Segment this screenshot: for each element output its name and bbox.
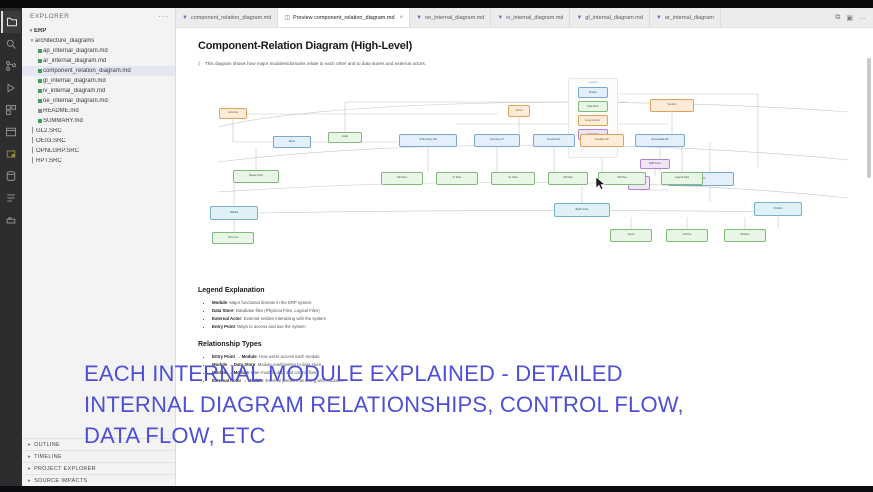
tree-root-file-list: ⎮GL2.SRC⎮OE03.SRC⎮OPNLGRP.SRC⎮RPT.SRC <box>22 126 175 166</box>
remote-explorer-icon[interactable] <box>1 143 21 165</box>
tree-root-file-item[interactable]: ⎮GL2.SRC <box>22 126 175 136</box>
relationship-list: Entry Point → Module: How users access e… <box>198 353 853 385</box>
diagram-node[interactable]: GL Files <box>491 172 535 185</box>
more-actions-icon[interactable]: … <box>859 14 866 21</box>
file-icon: ⎮ <box>29 138 36 144</box>
chevron-right-icon: ▸ <box>28 442 31 448</box>
sidebar-title: EXPLORER <box>30 13 69 20</box>
list-item: Data Store: Database files (Physical Fil… <box>212 307 853 315</box>
diagram-node[interactable]: Backup <box>724 229 766 242</box>
editor-tab[interactable]: ▼component_relation_diagram.md <box>176 8 278 27</box>
markdown-icon: ▼ <box>497 15 503 21</box>
tree-file-label: SUMMARY.md <box>43 118 83 124</box>
vscode-window: EXPLORER ··· ▾ ERP ▾ architecture_diagra… <box>0 0 873 492</box>
sidebar-section-label: OUTLINE <box>34 442 60 448</box>
diagram-node[interactable]: Master Files <box>233 170 279 183</box>
list-item-term: External Actor <box>212 316 241 321</box>
diagram-node[interactable]: Logical Files <box>661 172 703 185</box>
tree-file-item[interactable]: README.md <box>22 106 175 116</box>
page-intro: This diagram shows how major modules/dom… <box>198 61 853 66</box>
tree-file-item[interactable]: gl_internal_diagram.md <box>22 76 175 86</box>
diagram-node[interactable]: IV Files <box>436 172 478 185</box>
editor-area: ▼component_relation_diagram.md◫Preview c… <box>176 8 873 486</box>
sidebar-section-label: SOURCE IMPACTS <box>34 478 87 484</box>
list-item-term: Data Store <box>212 308 234 313</box>
tree-file-item[interactable]: ar_internal_diagram.md <box>22 56 175 66</box>
list-item-term: Entry Point → Module <box>212 354 257 359</box>
file-icon: ⎮ <box>29 148 36 154</box>
sidebar-section-label: PROJECT EXPLORER <box>34 466 96 472</box>
markdown-icon: ▼ <box>576 15 582 21</box>
close-icon[interactable]: × <box>400 15 404 21</box>
diagram-node[interactable]: Vendors <box>650 99 694 112</box>
tree-file-item[interactable]: ap_internal_diagram.md <box>22 46 175 56</box>
diagram-node[interactable]: External <box>219 108 247 119</box>
diagram-node[interactable]: Archive <box>666 229 708 242</box>
list-item-desc: : Ways to access and use the system <box>235 324 306 329</box>
file-tree: ▾ ERP ▾ architecture_diagrams ap_interna… <box>22 25 175 166</box>
list-item-desc: : Module reads/writes to data store <box>255 362 321 367</box>
tree-file-item[interactable]: SUMMARY.md <box>22 116 175 126</box>
diagram-node[interactable]: Common <box>212 232 254 244</box>
tree-root-file-item[interactable]: ⎮RPT.SRC <box>22 156 175 166</box>
markdown-icon: ▼ <box>416 15 422 21</box>
tree-root-file-label: GL2.SRC <box>36 128 62 134</box>
tree-file-list: ap_internal_diagram.mdar_internal_diagra… <box>22 46 175 126</box>
editor-tab-label: component_relation_diagram.md <box>191 15 271 21</box>
diagram-legend-swatch: Data Store <box>578 101 608 112</box>
tree-file-label: ap_internal_diagram.md <box>43 48 108 54</box>
run-debug-icon[interactable] <box>1 77 21 99</box>
markdown-icon <box>36 48 43 54</box>
list-item-desc: : How users access each module <box>257 354 320 359</box>
sidebar-section-timeline[interactable]: ▸TIMELINE <box>22 450 175 462</box>
editor-tab[interactable]: ▼gl_internal_diagram.md <box>570 8 649 27</box>
tree-file-label: iv_internal_diagram.md <box>43 88 105 94</box>
tree-file-label: oe_internal_diagram.md <box>43 98 108 104</box>
diagram-legend-swatch: Module <box>578 87 608 98</box>
list-item-desc: : Inter-module data and control flow <box>249 370 316 375</box>
extensions-icon[interactable] <box>1 99 21 121</box>
editor-tab-label: gl_internal_diagram.md <box>585 15 642 21</box>
markdown-icon <box>36 88 43 94</box>
sidebar-section-source-impacts[interactable]: ▸SOURCE IMPACTS <box>22 474 175 486</box>
page-title: Component-Relation Diagram (High-Level) <box>198 40 853 52</box>
tree-file-item[interactable]: oe_internal_diagram.md <box>22 96 175 106</box>
diagram-node[interactable]: Batch Jobs <box>554 203 610 217</box>
diagram-node[interactable]: AP Files <box>548 172 588 185</box>
docker-icon[interactable] <box>1 209 21 231</box>
list-item-desc: : Database files (Physical Files, Logica… <box>234 308 320 313</box>
diagram-node[interactable]: Menu <box>273 136 311 148</box>
markdown-icon: ▼ <box>182 15 188 21</box>
editor-tab[interactable]: ◫Preview component_relation_diagram.md× <box>278 8 410 27</box>
split-editor-icon[interactable]: ⧉ <box>835 14 840 22</box>
window-top-strip <box>0 0 873 8</box>
list-item-term: External Actor → Module <box>212 378 263 383</box>
tree-file-label: component_relation_diagram.md <box>43 68 131 74</box>
legend-heading: Legend Explanation <box>198 287 853 294</box>
database-icon[interactable] <box>1 165 21 187</box>
diagram-legend-swatch: External Actor <box>578 115 608 126</box>
list-item: Module → Module: Inter-module data and c… <box>212 369 853 377</box>
preview-icon: ◫ <box>284 14 290 21</box>
markdown-icon <box>36 58 43 64</box>
list-item: External Actor → Module: External partie… <box>212 377 853 385</box>
file-icon: ⎮ <box>29 158 36 164</box>
markdown-icon <box>36 78 43 84</box>
editor-tab-label: Preview component_relation_diagram.md <box>293 15 395 21</box>
editor-tab[interactable]: ▼ar_internal_diagram <box>650 8 721 27</box>
todo-icon[interactable] <box>1 187 21 209</box>
diagram-node[interactable]: General GL <box>533 134 575 147</box>
diagram-node[interactable]: Inventory IV <box>474 134 520 147</box>
tree-file-label: README.md <box>43 108 79 114</box>
sidebar-more-icon[interactable]: ··· <box>158 12 169 21</box>
list-item: Module: Major functional domain in the E… <box>212 299 853 307</box>
activity-bar <box>0 8 22 486</box>
diagram-node[interactable]: Payable AP <box>580 134 624 147</box>
component-relation-diagram: Legend ModuleData StoreExternal ActorEnt… <box>198 72 853 277</box>
file-icon: ⎮ <box>29 128 36 134</box>
list-item: Module → Data Store: Module reads/writes… <box>212 361 853 369</box>
sidebar-sections: ▸OUTLINE▸TIMELINE▸PROJECT EXPLORER▸SOURC… <box>22 438 175 486</box>
chevron-right-icon: ▸ <box>28 454 31 460</box>
editor-tab-actions: ⧉ ▣ … <box>828 8 873 27</box>
tree-file-label: ar_internal_diagram.md <box>43 58 106 64</box>
chevron-right-icon: ▸ <box>28 478 31 484</box>
tree-file-item[interactable]: iv_internal_diagram.md <box>22 86 175 96</box>
list-item: Entry Point → Module: How users access e… <box>212 353 853 361</box>
legend-list: Module: Major functional domain in the E… <box>198 299 853 331</box>
diagram-node[interactable]: Receivable AR <box>635 134 685 147</box>
tree-file-item[interactable]: component_relation_diagram.md <box>22 66 175 76</box>
editor-tab-bar: ▼component_relation_diagram.md◫Preview c… <box>176 8 873 28</box>
list-item: External Actor: External entities intera… <box>212 315 853 323</box>
search-icon[interactable] <box>1 33 21 55</box>
editor-tab[interactable]: ▼oe_internal_diagram.md <box>410 8 491 27</box>
list-item-desc: : External parties interacting with modu… <box>263 378 343 383</box>
markdown-icon <box>36 98 43 104</box>
diagram-node[interactable]: Order Entry OE <box>399 134 457 147</box>
sidebar-explorer: EXPLORER ··· ▾ ERP ▾ architecture_diagra… <box>22 8 176 486</box>
sidebar-section-outline[interactable]: ▸OUTLINE <box>22 438 175 450</box>
tree-root-erp[interactable]: ▾ ERP <box>22 26 175 36</box>
markdown-icon: ▼ <box>656 15 662 21</box>
tree-folder-label: architecture_diagrams <box>35 38 94 44</box>
tree-root-file-label: OE03.SRC <box>36 138 66 144</box>
testing-icon[interactable] <box>1 121 21 143</box>
diagram-node[interactable]: AR Files <box>598 172 646 185</box>
editor-scrollbar[interactable] <box>867 58 871 178</box>
tree-root-file-label: RPT.SRC <box>36 158 62 164</box>
editor-tab[interactable]: ▼iv_internal_diagram.md <box>491 8 570 27</box>
list-item-term: Entry Point <box>212 324 235 329</box>
diagram-node[interactable]: Spool <box>610 229 652 242</box>
markdown-icon <box>36 68 43 74</box>
editor-tab-label: iv_internal_diagram.md <box>506 15 563 21</box>
diagram-node[interactable]: ERP Core <box>640 159 670 169</box>
editor-tab-label: ar_internal_diagram <box>665 15 714 21</box>
tree-folder-architecture-diagrams[interactable]: ▾ architecture_diagrams <box>22 36 175 46</box>
diagram-node[interactable]: Audit <box>328 132 362 143</box>
sidebar-section-project-explorer[interactable]: ▸PROJECT EXPLORER <box>22 462 175 474</box>
tree-root-file-item[interactable]: ⎮OE03.SRC <box>22 136 175 146</box>
tree-root-file-label: OPNLGRP.SRC <box>36 148 79 154</box>
diagram-legend-title: Legend <box>569 81 617 84</box>
diagram-node[interactable]: Printers <box>754 202 802 216</box>
list-item: Entry Point: Ways to access and use the … <box>212 323 853 331</box>
tree-file-label: gl_internal_diagram.md <box>43 78 106 84</box>
editor-tab-label: oe_internal_diagram.md <box>425 15 484 21</box>
explorer-icon[interactable] <box>1 11 21 33</box>
layout-editor-icon[interactable]: ▣ <box>846 14 853 22</box>
markdown-icon <box>36 118 43 124</box>
mouse-cursor-icon <box>596 177 605 190</box>
markdown-icon <box>36 108 43 114</box>
relationship-heading: Relationship Types <box>198 341 853 348</box>
diagram-node[interactable]: Utilities <box>210 206 258 220</box>
source-control-icon[interactable] <box>1 55 21 77</box>
sidebar-header: EXPLORER ··· <box>22 8 175 25</box>
list-item-desc: : External entities interacting with the… <box>241 316 326 321</box>
list-item-term: Module <box>212 300 227 305</box>
tree-root-file-item[interactable]: ⎮OPNLGRP.SRC <box>22 146 175 156</box>
markdown-preview: Component-Relation Diagram (High-Level) … <box>176 28 873 486</box>
window-bottom-strip <box>0 486 873 492</box>
list-item-desc: : Major functional domain in the ERP sys… <box>227 300 311 305</box>
list-item-term: Module → Data Store <box>212 362 255 367</box>
list-item-term: Module → Module <box>212 370 249 375</box>
sidebar-section-label: TIMELINE <box>34 454 62 460</box>
diagram-node[interactable]: Actors <box>508 105 530 117</box>
diagram-node[interactable]: OE Files <box>381 172 423 185</box>
chevron-right-icon: ▸ <box>28 466 31 472</box>
tree-root-label: ERP <box>34 28 46 34</box>
